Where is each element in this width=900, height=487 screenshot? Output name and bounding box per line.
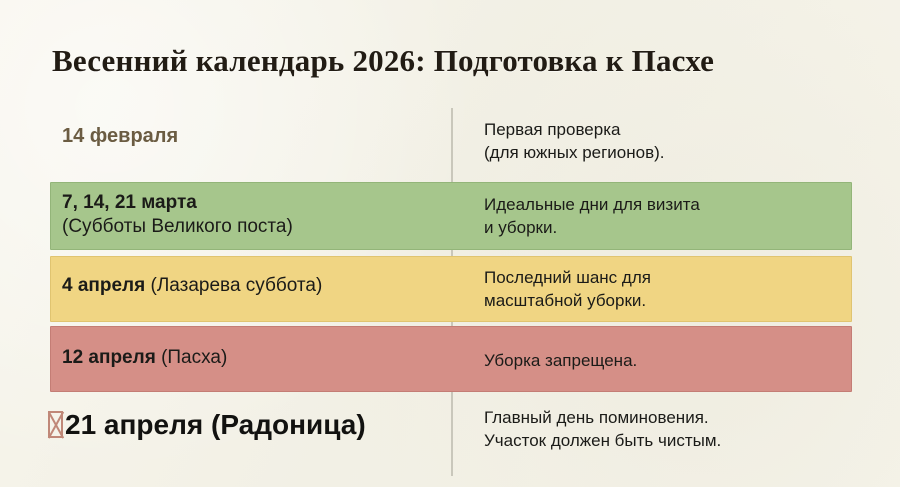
calendar-table: 14 февраля Первая проверка (для южных ре… (0, 100, 900, 480)
row-date-line1: 4 апреля (Лазарева суббота) (62, 274, 442, 298)
row-date-line1: 7, 14, 21 марта (62, 191, 442, 215)
row-description-line1: Первая проверка (484, 118, 884, 141)
page-title: Весенний календарь 2026: Подготовка к Па… (52, 43, 852, 79)
row-date-line1: 21 апреля (Радоница) (48, 408, 468, 442)
row-description-line1: Главный день поминовения. (484, 406, 884, 429)
row-description-cell: Последний шанс для масштабной уборки. (484, 266, 884, 312)
row-description-cell: Первая проверка (для южных регионов). (484, 118, 884, 164)
row-date-cell: 4 апреля (Лазарева суббота) (62, 274, 442, 298)
row-date-primary: 4 апреля (62, 275, 145, 296)
row-description-cell: Главный день поминовения. Участок должен… (484, 406, 884, 452)
row-description-line1: Уборка запрещена. (484, 349, 884, 372)
table-row: 4 апреля (Лазарева суббота) Последний ша… (0, 252, 900, 324)
row-description-line1: Идеальные дни для визита (484, 193, 884, 216)
row-description-line2: масштабной уборки. (484, 289, 884, 312)
row-description-cell: Идеальные дни для визита и уборки. (484, 193, 884, 239)
row-date-primary: 21 апреля (Радоница) (65, 409, 366, 440)
row-description-line2: (для южных регионов). (484, 141, 884, 164)
row-date-cell: 7, 14, 21 марта (Субботы Великого поста) (62, 191, 442, 239)
row-description-line1: Последний шанс для (484, 266, 884, 289)
row-date-secondary: (Пасха) (156, 347, 228, 368)
row-description-cell: Уборка запрещена. (484, 349, 884, 372)
row-date-line2: (Субботы Великого поста) (62, 215, 442, 239)
row-date-cell: 14 февраля (62, 124, 442, 148)
row-date-cell: 12 апреля (Пасха) (62, 346, 442, 370)
row-date-cell: 21 апреля (Радоница) (48, 408, 468, 442)
row-date-secondary: (Лазарева суббота) (145, 275, 322, 296)
row-date-primary: 12 апреля (62, 347, 156, 368)
missing-glyph-tofu-icon (48, 411, 63, 438)
row-date-line1: 14 февраля (62, 124, 442, 148)
row-date-line1: 12 апреля (Пасха) (62, 346, 442, 370)
table-row: 21 апреля (Радоница) Главный день помино… (0, 396, 900, 478)
row-description-line2: и уборки. (484, 216, 884, 239)
row-date-primary: 14 февраля (62, 125, 178, 147)
table-row: 14 февраля Первая проверка (для южных ре… (0, 100, 900, 178)
row-description-line2: Участок должен быть чистым. (484, 429, 884, 452)
table-row: 7, 14, 21 марта (Субботы Великого поста)… (0, 178, 900, 252)
row-date-primary: 7, 14, 21 марта (62, 192, 197, 213)
table-row: 12 апреля (Пасха) Уборка запрещена. (0, 324, 900, 396)
infographic-page: Весенний календарь 2026: Подготовка к Па… (0, 0, 900, 487)
